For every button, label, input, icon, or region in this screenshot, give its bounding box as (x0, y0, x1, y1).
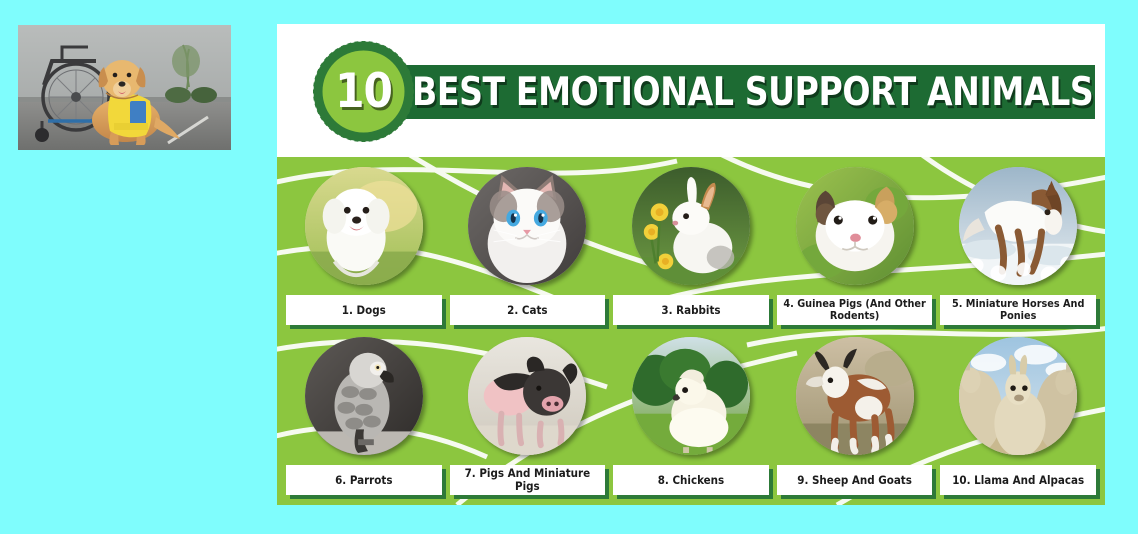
animal-item[interactable]: 7. Pigs And Miniature Pigs (446, 329, 610, 499)
animal-label-card[interactable]: 8. Chickens (613, 465, 769, 495)
animal-photo-pig[interactable] (468, 337, 586, 455)
animal-photo-chicken[interactable] (632, 337, 750, 455)
service-dog-image (18, 25, 231, 150)
service-dog-thumbnail[interactable] (18, 25, 231, 150)
animal-label-text: 4. Guinea Pigs (And Other Rodents) (777, 298, 933, 322)
animal-label-card[interactable]: 5. Miniature Horses And Ponies (940, 295, 1096, 325)
animal-label-card[interactable]: 10. Llama And Alpacas (940, 465, 1096, 495)
animal-item[interactable]: 10. Llama And Alpacas (936, 329, 1100, 499)
item-row-1: 1. Dogs 2. Cats (277, 159, 1105, 329)
animal-photo-rabbit[interactable] (632, 167, 750, 285)
animal-photo-cat[interactable] (468, 167, 586, 285)
animal-item[interactable]: 1. Dogs (282, 159, 446, 329)
animal-label-card[interactable]: 2. Cats (450, 295, 606, 325)
item-row-2: 6. Parrots 7. Pigs And Miniature Pigs 8. (277, 329, 1105, 499)
animal-photo-dog[interactable] (305, 167, 423, 285)
poster-title: BEST EMOTIONAL SUPPORT ANIMALS (412, 65, 1054, 119)
animal-photo-guinea-pig[interactable] (796, 167, 914, 285)
animal-label-text: 2. Cats (504, 304, 550, 317)
animal-label-card[interactable]: 3. Rabbits (613, 295, 769, 325)
animal-label-card[interactable]: 6. Parrots (286, 465, 442, 495)
animal-item[interactable]: 6. Parrots (282, 329, 446, 499)
animal-photo-parrot[interactable] (305, 337, 423, 455)
poster-body: 1. Dogs 2. Cats (277, 157, 1105, 505)
rank-badge: 10 (311, 39, 416, 144)
animal-photo-horse[interactable] (959, 167, 1077, 285)
animal-item[interactable]: 8. Chickens (609, 329, 773, 499)
animal-label-text: 9. Sheep And Goats (794, 474, 915, 487)
animal-label-card[interactable]: 7. Pigs And Miniature Pigs (450, 465, 606, 495)
animal-item[interactable]: 9. Sheep And Goats (773, 329, 937, 499)
animal-label-text: 3. Rabbits (658, 304, 723, 317)
animal-item[interactable]: 3. Rabbits (609, 159, 773, 329)
animal-label-text: 7. Pigs And Miniature Pigs (450, 467, 606, 493)
animal-label-text: 8. Chickens (655, 474, 727, 487)
poster-header: 10 BEST EMOTIONAL SUPPORT ANIMALS (277, 24, 1105, 157)
infographic-poster: 10 BEST EMOTIONAL SUPPORT ANIMALS (277, 24, 1105, 505)
animal-label-text: 10. Llama And Alpacas (949, 474, 1087, 487)
animal-label-card[interactable]: 9. Sheep And Goats (777, 465, 933, 495)
animal-label-text: 1. Dogs (339, 304, 389, 317)
animal-photo-goat[interactable] (796, 337, 914, 455)
animal-item[interactable]: 5. Miniature Horses And Ponies (936, 159, 1100, 329)
animal-item[interactable]: 2. Cats (446, 159, 610, 329)
animal-photo-alpaca[interactable] (959, 337, 1077, 455)
animal-label-text: 6. Parrots (332, 474, 395, 487)
animal-label-card[interactable]: 4. Guinea Pigs (And Other Rodents) (777, 295, 933, 325)
animal-label-card[interactable]: 1. Dogs (286, 295, 442, 325)
animal-item[interactable]: 4. Guinea Pigs (And Other Rodents) (773, 159, 937, 329)
rank-number: 10 (311, 39, 416, 144)
animal-label-text: 5. Miniature Horses And Ponies (940, 298, 1096, 322)
